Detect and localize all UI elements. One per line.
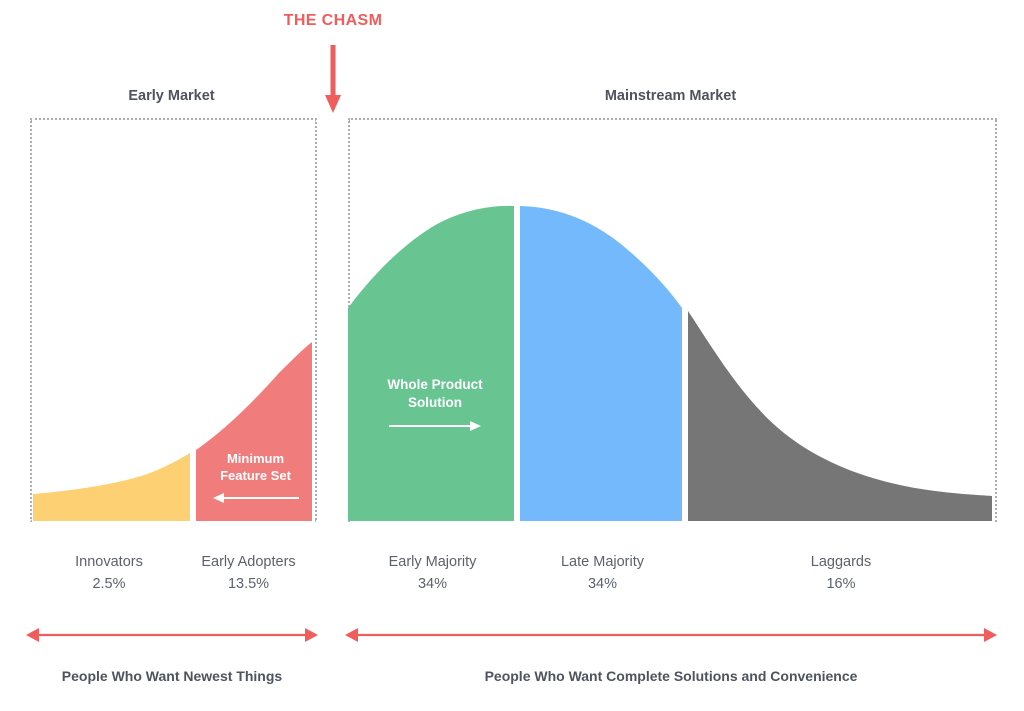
whole-product-solution-line-2: Solution xyxy=(408,395,462,410)
segment-percent-early-majority: 34% xyxy=(349,574,516,596)
down-arrow-icon xyxy=(324,45,342,113)
early-market-range-caption: People Who Want Newest Things xyxy=(26,668,318,684)
segment-percent-early-adopters: 13.5% xyxy=(185,574,312,596)
mainstream-market-range-caption: People Who Want Complete Solutions and C… xyxy=(345,668,997,684)
mainstream-market-boundary-box xyxy=(348,118,997,522)
segment-caption-laggards: Laggards 16% xyxy=(689,552,993,596)
chasm-title: THE CHASM xyxy=(233,12,433,30)
segment-name-early-adopters: Early Adopters xyxy=(185,552,312,574)
segment-name-early-majority: Early Majority xyxy=(349,552,516,574)
segment-caption-late-majority: Late Majority 34% xyxy=(519,552,686,596)
segment-name-late-majority: Late Majority xyxy=(519,552,686,574)
early-market-range-arrow-icon xyxy=(26,624,318,646)
mainstream-market-range-arrow-icon xyxy=(345,624,997,646)
minimum-feature-set-callout: Minimum Feature Set xyxy=(199,450,312,503)
mainstream-market-label: Mainstream Market xyxy=(348,88,993,104)
whole-product-solution-line-1: Whole Product xyxy=(387,377,482,392)
early-market-label: Early Market xyxy=(30,88,313,104)
segment-caption-innovators: Innovators 2.5% xyxy=(33,552,185,596)
minimum-feature-set-line-2: Feature Set xyxy=(220,468,291,483)
segment-percent-late-majority: 34% xyxy=(519,574,686,596)
segment-name-innovators: Innovators xyxy=(33,552,185,574)
minimum-feature-set-line-1: Minimum xyxy=(227,451,284,466)
right-arrow-icon xyxy=(389,421,481,431)
segment-caption-early-adopters: Early Adopters 13.5% xyxy=(185,552,312,596)
segment-caption-early-majority: Early Majority 34% xyxy=(349,552,516,596)
adoption-lifecycle-diagram: THE CHASM Early Market Mainstream Market… xyxy=(0,0,1024,711)
left-arrow-icon xyxy=(213,493,299,503)
whole-product-solution-callout: Whole Product Solution xyxy=(350,376,520,431)
segment-name-laggards: Laggards xyxy=(689,552,993,574)
segment-percent-innovators: 2.5% xyxy=(33,574,185,596)
segment-percent-laggards: 16% xyxy=(689,574,993,596)
